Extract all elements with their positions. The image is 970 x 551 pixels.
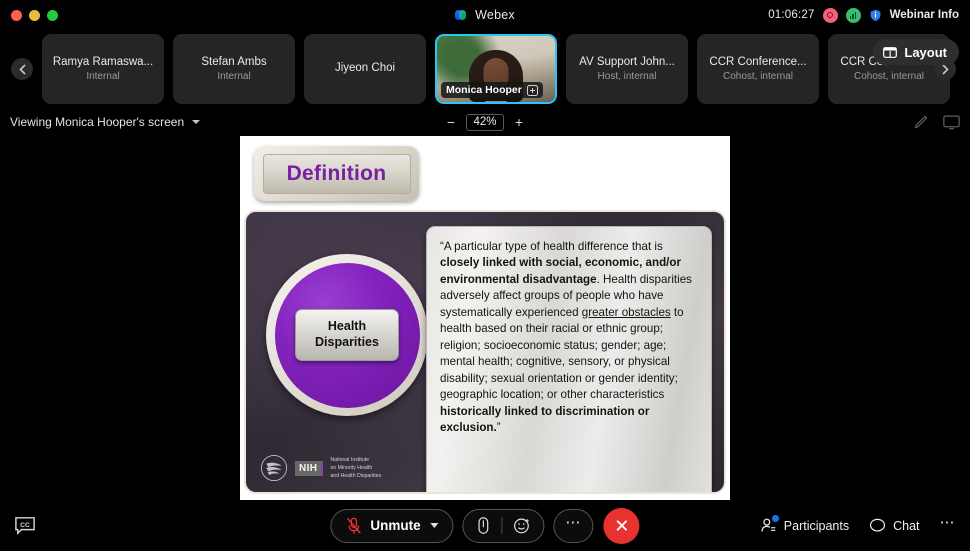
- info-shield-icon: [869, 8, 882, 22]
- participants-label: Participants: [784, 519, 849, 533]
- participant-tile[interactable]: Jiyeon Choi: [304, 34, 426, 104]
- nih-wordmark: NIH: [295, 461, 323, 476]
- minimize-window-button[interactable]: [29, 10, 40, 21]
- nimhd-line-2: on Minority Health: [330, 464, 381, 472]
- layout-button[interactable]: Layout: [873, 39, 959, 65]
- participant-role: Internal: [217, 71, 250, 82]
- chat-button[interactable]: Chat: [869, 518, 919, 534]
- participants-button[interactable]: Participants: [760, 517, 849, 534]
- zoom-in-button[interactable]: +: [513, 114, 525, 130]
- secondary-controls-group: Participants Chat ⋯: [760, 517, 956, 534]
- tile-grabber-handle[interactable]: [485, 101, 507, 104]
- app-title: Webex: [475, 8, 515, 22]
- participant-tile[interactable]: AV Support John... Host, internal: [566, 34, 688, 104]
- hhs-eagle-icon: [260, 454, 288, 482]
- window-controls[interactable]: [0, 10, 58, 21]
- more-options-button[interactable]: ⋯: [554, 509, 594, 543]
- quote-mid-2: to health based on their racial or ethni…: [440, 306, 684, 401]
- meeting-timer: 01:06:27: [768, 9, 814, 21]
- end-call-icon: [614, 518, 629, 533]
- slide-title: Definition: [287, 162, 387, 186]
- layout-grid-icon: [883, 46, 897, 59]
- participant-name: Monica Hooper: [446, 84, 522, 96]
- close-window-button[interactable]: [11, 10, 22, 21]
- chevron-left-icon: [19, 64, 26, 75]
- presentation-slide[interactable]: Definition Health Disparities “A particu…: [240, 136, 730, 500]
- nimhd-line-3: and Health Disparities: [330, 472, 381, 480]
- recording-indicator-icon[interactable]: [823, 8, 838, 23]
- screen-share-bar: Viewing Monica Hooper's screen − 42% +: [0, 108, 970, 136]
- participant-name: Ramya Ramaswa...: [53, 56, 153, 68]
- chevron-up-icon[interactable]: [431, 523, 439, 528]
- participant-role: Internal: [86, 71, 119, 82]
- slide-title-badge: Definition: [254, 146, 419, 201]
- participant-tile-active-speaker[interactable]: Monica Hooper: [435, 34, 557, 104]
- participant-roster-strip: Ramya Ramaswa... Internal Stefan Ambs In…: [0, 30, 970, 108]
- definition-quote-text: “A particular type of health difference …: [440, 239, 698, 436]
- zoom-level-value[interactable]: 42%: [466, 114, 504, 131]
- microphone-muted-icon: [345, 517, 362, 535]
- unmute-label: Unmute: [370, 518, 420, 533]
- nimhd-line-1: National Institute: [330, 456, 381, 464]
- unmute-button[interactable]: Unmute: [330, 509, 453, 543]
- webinar-info-button[interactable]: Webinar Info: [890, 9, 959, 21]
- raise-hand-icon[interactable]: [477, 516, 491, 535]
- quote-underline-1: greater obstacles: [582, 306, 671, 319]
- quote-close: ”: [497, 421, 501, 434]
- participant-role: Cohost, internal: [723, 71, 793, 82]
- circle-label-line1: Health: [328, 319, 366, 335]
- participant-name: CCR Conference...: [709, 56, 806, 68]
- definition-quote-card: “A particular type of health difference …: [426, 226, 712, 494]
- share-screen-icon[interactable]: [943, 115, 960, 130]
- share-bar-right-group: [913, 114, 960, 130]
- meeting-control-bar: CC Unmute: [0, 500, 970, 551]
- participant-tile[interactable]: Ramya Ramaswa... Internal: [42, 34, 164, 104]
- circle-fill: Health Disparities: [275, 263, 420, 408]
- chat-bubble-icon: [869, 518, 886, 534]
- participant-name: Jiyeon Choi: [335, 62, 395, 74]
- annotate-pen-icon[interactable]: [913, 114, 929, 130]
- shared-screen-stage: Definition Health Disparities “A particu…: [0, 136, 970, 500]
- quote-bold-2-prefix: historically linked to: [440, 405, 555, 418]
- slide-title-inner: Definition: [263, 154, 411, 194]
- nimhd-logo: NIH National Institute on Minority Healt…: [260, 454, 381, 482]
- circle-plaque: Health Disparities: [295, 309, 399, 361]
- window-title-bar: Webex 01:06:27 Webinar Info: [0, 0, 970, 30]
- more-menu-icon: ⋯: [940, 523, 957, 528]
- participant-name: AV Support John...: [579, 56, 675, 68]
- circle-label-line2: Disparities: [315, 335, 379, 351]
- participant-role: Cohost, internal: [854, 71, 924, 82]
- participant-role: Host, internal: [598, 71, 657, 82]
- end-call-button[interactable]: [604, 508, 640, 544]
- viewing-label: Viewing Monica Hooper's screen: [10, 115, 184, 129]
- nimhd-institute-name: National Institute on Minority Health an…: [330, 456, 381, 480]
- closed-caption-icon[interactable]: CC: [14, 516, 36, 536]
- chevron-down-icon[interactable]: [192, 120, 200, 124]
- primary-controls-group: Unmute ⋯: [330, 508, 639, 544]
- emoji-reactions-icon[interactable]: [514, 517, 531, 534]
- reactions-group: [463, 509, 545, 543]
- quote-open: “A particular type of health difference …: [440, 240, 663, 253]
- zoom-controls: − 42% +: [445, 114, 525, 131]
- layout-button-label: Layout: [904, 45, 947, 60]
- health-disparities-circle: Health Disparities: [266, 254, 428, 416]
- webex-logo-icon: [455, 8, 469, 22]
- more-options-icon: ⋯: [565, 523, 582, 528]
- control-divider: [502, 517, 503, 534]
- participant-name: Stefan Ambs: [201, 56, 266, 68]
- zoom-out-button[interactable]: −: [445, 114, 457, 130]
- roster-prev-button[interactable]: [11, 58, 33, 80]
- slide-content-panel: Health Disparities “A particular type of…: [244, 210, 726, 494]
- participants-notification-dot: [772, 515, 779, 522]
- participant-tile[interactable]: Stefan Ambs Internal: [173, 34, 295, 104]
- participant-tile[interactable]: CCR Conference... Cohost, internal: [697, 34, 819, 104]
- maximize-window-button[interactable]: [47, 10, 58, 21]
- active-speaker-name-chip[interactable]: Monica Hooper: [441, 82, 543, 98]
- title-bar-right-group: 01:06:27 Webinar Info: [768, 8, 970, 23]
- expand-video-icon[interactable]: [527, 85, 538, 96]
- chat-label: Chat: [893, 519, 919, 533]
- network-quality-icon[interactable]: [846, 8, 861, 23]
- overflow-menu-button[interactable]: ⋯: [940, 523, 957, 528]
- chevron-right-icon: [942, 64, 949, 75]
- svg-text:CC: CC: [20, 521, 30, 528]
